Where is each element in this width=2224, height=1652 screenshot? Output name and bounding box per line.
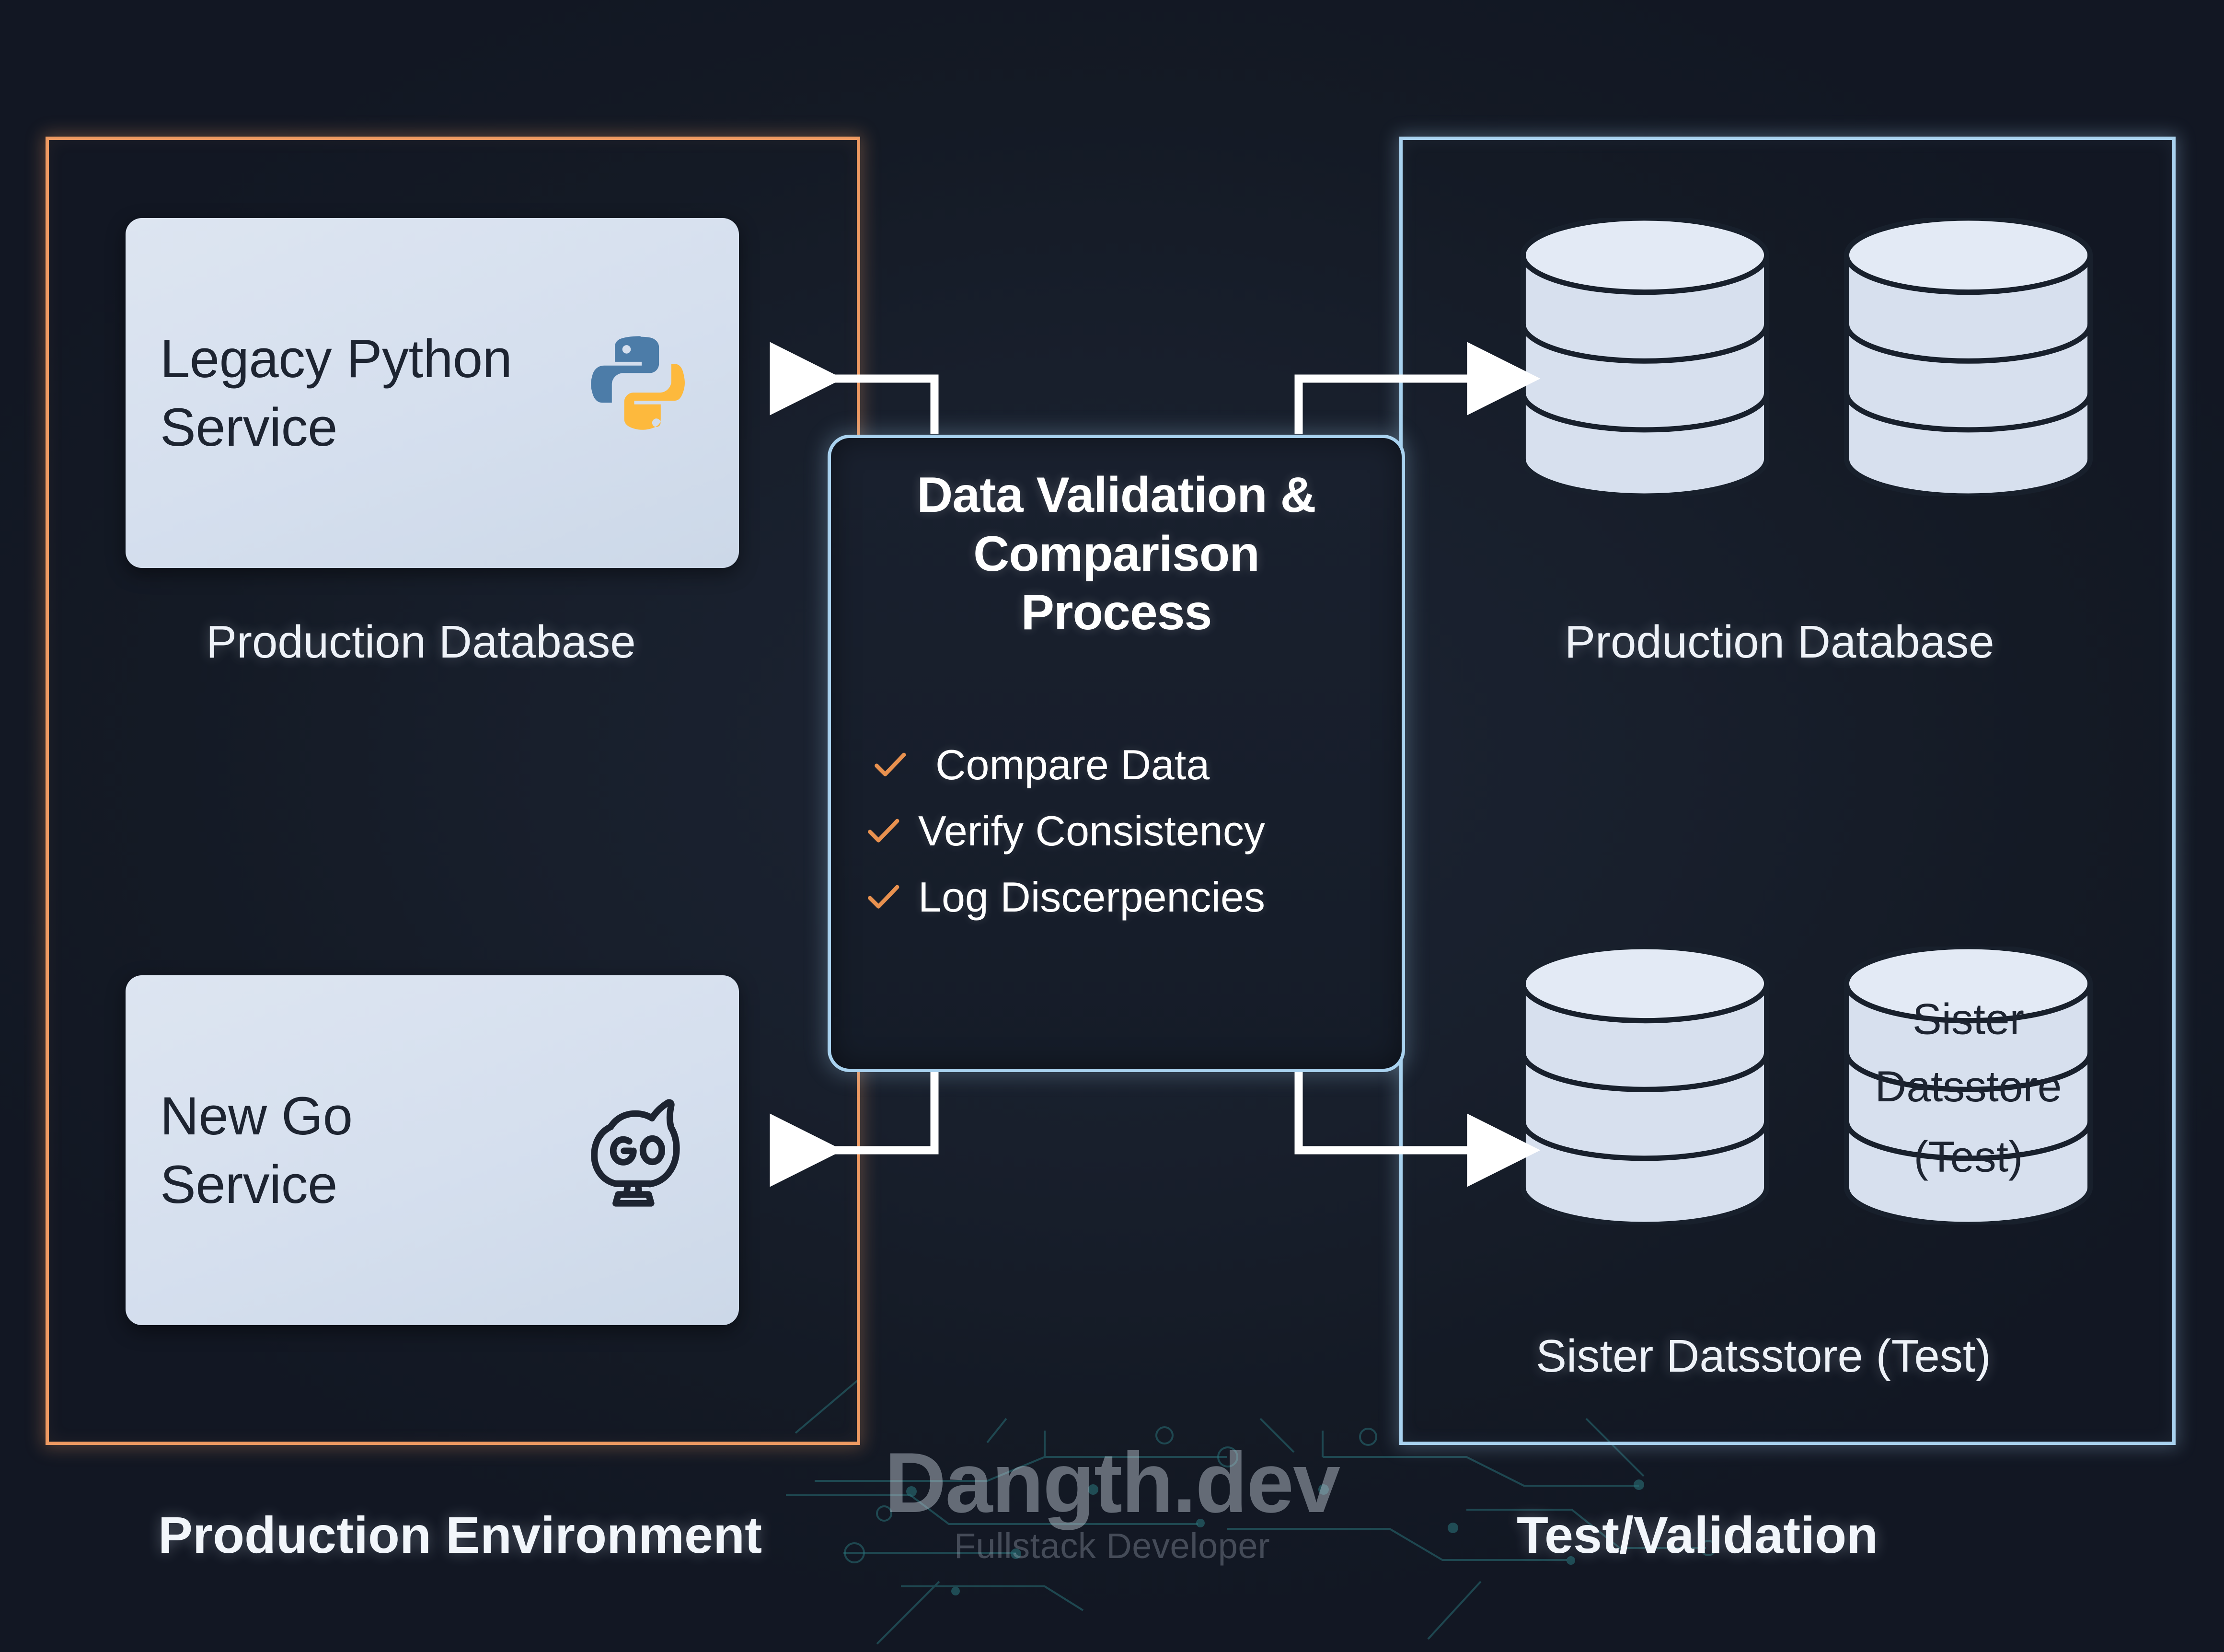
sister-cylinder-line-2: Datsstore — [1875, 1062, 2062, 1111]
sister-datastore-cylinder-1 — [1512, 947, 1778, 1225]
production-database-cylinder-2 — [1835, 218, 2101, 496]
production-database-caption-left: Production Database — [206, 616, 636, 669]
production-environment-label: Production Environment — [158, 1505, 762, 1565]
architecture-diagram: Legacy Python Service New Go Service — [0, 0, 2224, 1652]
validation-step-label: Verify Consistency — [918, 807, 1265, 855]
go-gopher-icon — [572, 1081, 711, 1220]
new-go-service-label: New Go Service — [160, 1082, 553, 1219]
new-go-service-card[interactable]: New Go Service — [126, 975, 739, 1325]
validation-step-item: Verify Consistency — [853, 807, 1380, 855]
sister-datastore-caption: Sister Datsstore (Test) — [1536, 1330, 1991, 1383]
python-logo-icon — [572, 323, 711, 462]
validation-steps-list: Compare Data Verify Consistency Log Disc… — [853, 740, 1380, 922]
check-icon — [864, 812, 902, 850]
validation-step-label: Log Discerpencies — [918, 873, 1265, 922]
sister-cylinder-line-3: (Test) — [1914, 1132, 2023, 1181]
validation-panel-title: Data Validation & Comparison Process — [853, 466, 1380, 642]
sister-datastore-cylinder-2: Sister Datsstore (Test) — [1835, 947, 2101, 1225]
production-database-caption-right: Production Database — [1565, 616, 1994, 669]
production-database-cylinder-1 — [1512, 218, 1778, 496]
legacy-python-service-card[interactable]: Legacy Python Service — [126, 218, 739, 568]
check-icon — [864, 878, 902, 916]
validation-step-item: Compare Data — [853, 740, 1380, 789]
sister-cylinder-line-1: Sister — [1913, 994, 2024, 1043]
data-validation-panel[interactable]: Data Validation & Comparison Process Com… — [828, 435, 1405, 1072]
check-icon — [871, 746, 909, 784]
validation-step-label: Compare Data — [935, 740, 1210, 789]
legacy-python-service-label: Legacy Python Service — [160, 324, 553, 462]
test-validation-label: Test/Validation — [1517, 1505, 1878, 1565]
validation-step-item: Log Discerpencies — [853, 873, 1380, 922]
